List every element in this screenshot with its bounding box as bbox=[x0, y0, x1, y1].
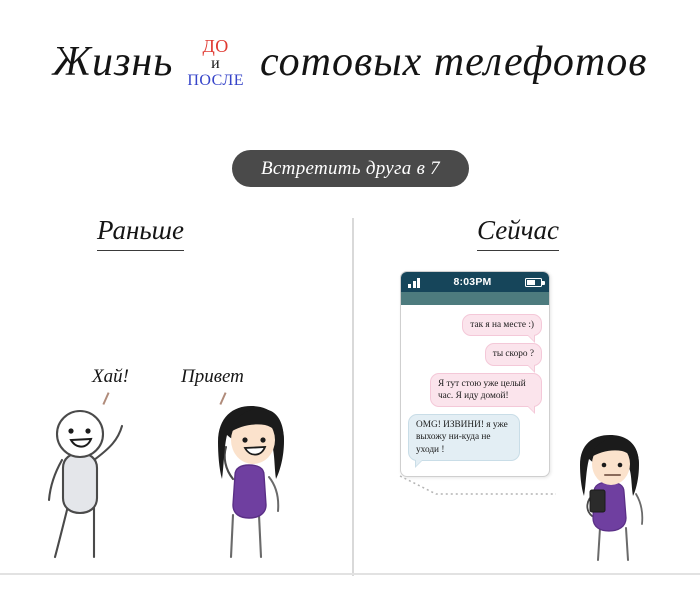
figure-boy-waving bbox=[32, 400, 162, 560]
subtitle-text: Встретить друга в 7 bbox=[261, 158, 440, 180]
girl-eye-left bbox=[242, 437, 247, 442]
boy-head bbox=[57, 411, 103, 457]
boy-left-leg bbox=[55, 506, 68, 557]
phone-mockup: 8:03PM так я на месте :) ты скоро ? Я ту… bbox=[400, 271, 550, 477]
handheld-phone-icon bbox=[590, 490, 605, 512]
message-bubble: Я тут стою уже целый час. Я иду домой! bbox=[430, 373, 542, 408]
girl-eye-right bbox=[260, 437, 265, 442]
page-title: Жизнь ДО и ПОСЛЕ сотовых телефотов bbox=[0, 22, 700, 102]
girl-right-leg bbox=[259, 515, 261, 557]
speech-label-girl: Привет bbox=[181, 366, 244, 388]
phone-subheader-bar bbox=[401, 292, 549, 305]
status-bar-time: 8:03PM bbox=[454, 276, 492, 288]
girl2-right-leg bbox=[626, 528, 628, 560]
title-label-after: ПОСЛЕ bbox=[187, 73, 244, 89]
girl2-eye-left bbox=[602, 463, 607, 468]
title-conjunction: и bbox=[211, 56, 220, 72]
connector-dotted-path bbox=[400, 476, 556, 494]
figure-girl-waving bbox=[185, 395, 305, 560]
girl-raised-arm bbox=[225, 447, 233, 479]
ground-line bbox=[0, 573, 700, 575]
figure-girl-texting bbox=[560, 432, 670, 562]
signal-bars-icon bbox=[408, 277, 420, 288]
subtitle-banner: Встретить друга в 7 bbox=[232, 150, 469, 187]
girl2-left-leg bbox=[598, 528, 600, 560]
panel-divider bbox=[352, 218, 354, 576]
girl2-right-arm bbox=[636, 494, 642, 524]
battery-icon bbox=[525, 278, 542, 287]
message-bubble: OMG! ИЗВИНИ! я уже выхожу ни-куда не ухо… bbox=[408, 414, 520, 461]
girl-dress bbox=[233, 465, 266, 518]
girl-left-leg bbox=[231, 515, 233, 557]
message-bubble: так я на месте :) bbox=[462, 314, 542, 336]
girl-right-arm bbox=[269, 477, 278, 511]
column-header-before: Раньше bbox=[97, 215, 184, 251]
message-bubble: ты скоро ? bbox=[485, 343, 542, 365]
phone-status-bar: 8:03PM bbox=[401, 272, 549, 292]
title-before-after-stack: ДО и ПОСЛЕ bbox=[187, 35, 244, 90]
title-word-before: Жизнь bbox=[53, 41, 174, 83]
battery-fill bbox=[527, 280, 535, 285]
title-label-before: ДО bbox=[203, 37, 229, 55]
speech-label-boy: Хай! bbox=[92, 366, 129, 388]
message-list: так я на месте :) ты скоро ? Я тут стою … bbox=[401, 305, 549, 467]
boy-eye-left bbox=[68, 428, 73, 433]
title-word-after: сотовых телефотов bbox=[260, 41, 647, 83]
boy-body bbox=[63, 453, 97, 513]
boy-left-arm bbox=[49, 460, 62, 500]
boy-eye-right bbox=[85, 428, 90, 433]
girl2-eye-right bbox=[618, 463, 623, 468]
column-header-now: Сейчас bbox=[477, 215, 559, 251]
